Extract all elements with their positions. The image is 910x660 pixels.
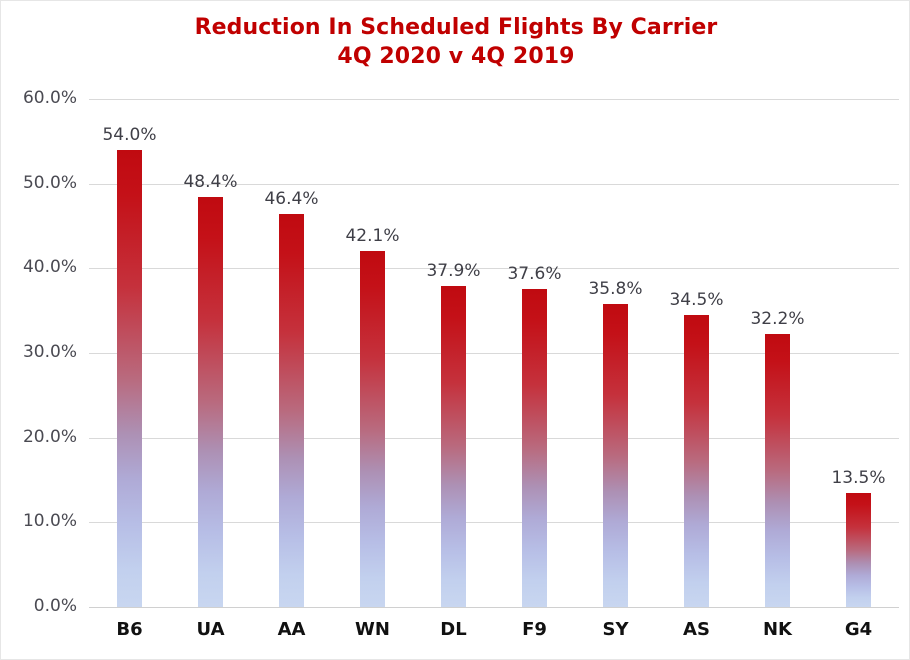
x-axis-label-aa: AA <box>252 619 332 640</box>
chart-title-line-2: 4Q 2020 v 4Q 2019 <box>1 42 910 71</box>
gridline <box>89 99 899 100</box>
bar-value-label: 37.6% <box>495 264 575 284</box>
bar-sy <box>603 304 628 607</box>
x-axis-label-ua: UA <box>171 619 251 640</box>
bar-value-label: 54.0% <box>90 125 170 145</box>
bar-value-label: 35.8% <box>576 279 656 299</box>
x-axis-label-wn: WN <box>333 619 413 640</box>
y-axis-tick-label: 0.0% <box>1 596 77 616</box>
y-axis-tick-label: 40.0% <box>1 257 77 277</box>
bar-value-label: 34.5% <box>657 290 737 310</box>
bar-dl <box>441 286 466 607</box>
bar-chart: Reduction In Scheduled Flights By Carrie… <box>0 0 910 660</box>
y-axis-tick-label: 50.0% <box>1 173 77 193</box>
x-axis-label-nk: NK <box>738 619 818 640</box>
bar-value-label: 46.4% <box>252 189 332 209</box>
y-axis-tick-label: 10.0% <box>1 511 77 531</box>
y-axis-tick-label: 60.0% <box>1 88 77 108</box>
bar-wn <box>360 251 385 607</box>
x-axis-label-g4: G4 <box>819 619 899 640</box>
bar-nk <box>765 334 790 607</box>
y-axis-tick-label: 30.0% <box>1 342 77 362</box>
bar-ua <box>198 197 223 607</box>
bar-value-label: 42.1% <box>333 226 413 246</box>
x-axis-label-sy: SY <box>576 619 656 640</box>
x-axis-label-as: AS <box>657 619 737 640</box>
gridline <box>89 607 899 608</box>
bar-b6 <box>117 150 142 607</box>
bar-value-label: 48.4% <box>171 172 251 192</box>
bar-value-label: 13.5% <box>819 468 899 488</box>
bar-aa <box>279 214 304 607</box>
y-axis-tick-label: 20.0% <box>1 427 77 447</box>
chart-title: Reduction In Scheduled Flights By Carrie… <box>1 13 910 71</box>
bar-f9 <box>522 289 547 607</box>
bar-value-label: 32.2% <box>738 309 818 329</box>
bar-as <box>684 315 709 607</box>
x-axis-label-dl: DL <box>414 619 494 640</box>
bar-value-label: 37.9% <box>414 261 494 281</box>
x-axis-label-f9: F9 <box>495 619 575 640</box>
chart-title-line-1: Reduction In Scheduled Flights By Carrie… <box>195 15 718 40</box>
x-axis-label-b6: B6 <box>90 619 170 640</box>
bar-g4 <box>846 493 871 607</box>
